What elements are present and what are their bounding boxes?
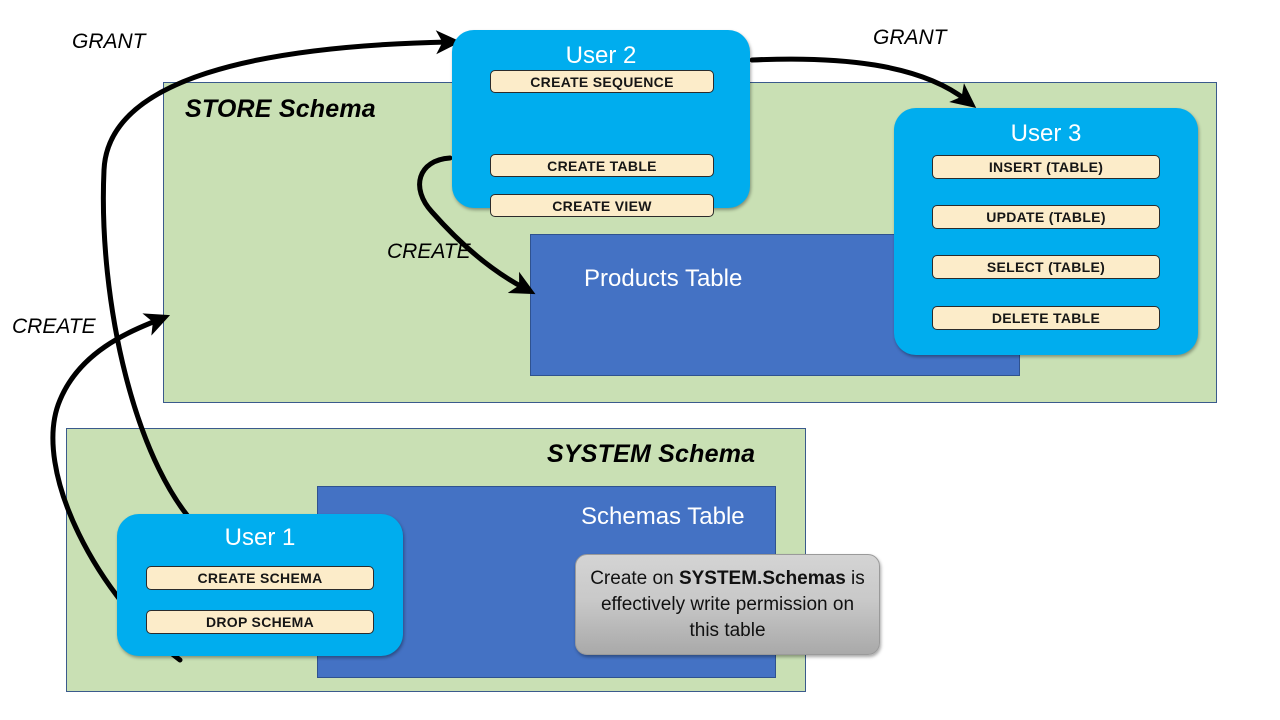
user1-title: User 1 <box>117 524 403 552</box>
user3-title: User 3 <box>894 120 1198 148</box>
arrow-label-create-user2-products: CREATE <box>387 240 471 264</box>
user3-box[interactable]: User 3 INSERT (TABLE) UPDATE (TABLE) SEL… <box>894 108 1198 355</box>
user2-title: User 2 <box>452 42 750 70</box>
diagram-canvas: STORE Schema SYSTEM Schema Products Tabl… <box>0 0 1280 720</box>
products-table-label: Products Table <box>584 265 742 293</box>
user3-permission-select[interactable]: SELECT (TABLE) <box>932 255 1160 279</box>
note-text: Create on SYSTEM.Schemas is effectively … <box>588 566 867 644</box>
user3-permission-insert[interactable]: INSERT (TABLE) <box>932 155 1160 179</box>
user2-box[interactable]: User 2 CREATE TABLE CREATE VIEW CREATE S… <box>452 30 750 208</box>
user1-permission-drop-schema[interactable]: DROP SCHEMA <box>146 610 374 634</box>
note-prefix: Create on <box>590 568 679 589</box>
arrow-label-create-user1-store: CREATE <box>12 315 96 339</box>
user3-permission-delete[interactable]: DELETE TABLE <box>932 306 1160 330</box>
user2-permission-create-sequence[interactable]: CREATE SEQUENCE <box>490 70 714 93</box>
user1-permission-create-schema[interactable]: CREATE SCHEMA <box>146 566 374 590</box>
user2-permission-create-view[interactable]: CREATE VIEW <box>490 194 714 217</box>
user3-permission-update[interactable]: UPDATE (TABLE) <box>932 205 1160 229</box>
system-schema-title: SYSTEM Schema <box>547 440 755 469</box>
store-schema-title: STORE Schema <box>185 95 376 124</box>
schemas-table-label: Schemas Table <box>581 503 745 531</box>
note-strong: SYSTEM.Schemas <box>679 568 846 589</box>
arrow-label-grant-user2-user3: GRANT <box>873 26 947 50</box>
user2-permission-create-table[interactable]: CREATE TABLE <box>490 154 714 177</box>
arrow-label-grant-user1-user2: GRANT <box>72 30 146 54</box>
user1-box[interactable]: User 1 CREATE SCHEMA DROP SCHEMA <box>117 514 403 656</box>
system-schemas-note: Create on SYSTEM.Schemas is effectively … <box>575 554 880 655</box>
